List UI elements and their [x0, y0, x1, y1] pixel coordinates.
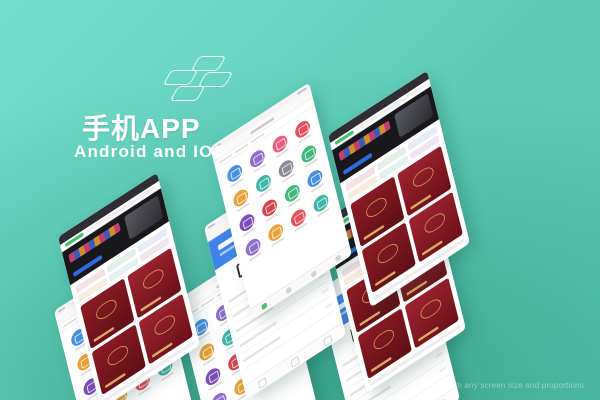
app-icon[interactable] [283, 182, 301, 205]
app-icon-cell[interactable] [264, 219, 289, 249]
app-icon-cell[interactable] [251, 170, 276, 200]
headline-block: 手机APP Android and IOS [60, 50, 310, 170]
footnote-text: * Works with any screen size and proport… [415, 381, 584, 390]
list-item-chevron [325, 302, 332, 309]
app-icon[interactable] [210, 390, 228, 400]
logo-tile-4 [198, 72, 234, 87]
app-icon[interactable] [238, 211, 256, 234]
app-icon-cell[interactable] [280, 180, 305, 210]
app-icon[interactable] [312, 191, 330, 214]
page-subtitle-en: Android and IOS [74, 142, 226, 162]
app-icon-cell[interactable] [235, 209, 260, 239]
app-icon[interactable] [254, 172, 272, 195]
app-icon[interactable] [267, 221, 285, 244]
list-item-chevron [439, 366, 446, 373]
four-rounded-rectangles-logo-icon [165, 54, 235, 106]
page-title-cn: 手机APP [82, 107, 201, 147]
app-icon[interactable] [204, 365, 222, 388]
logo-tile-2 [191, 56, 227, 71]
logo-tile-3 [170, 86, 206, 101]
app-icon-cell[interactable] [241, 234, 266, 264]
app-icon-cell[interactable] [229, 185, 254, 215]
app-icon[interactable] [290, 206, 308, 229]
app-icon[interactable] [198, 341, 216, 364]
app-icon[interactable] [306, 167, 324, 190]
list-item-chevron [322, 287, 329, 294]
app-icon[interactable] [232, 187, 250, 210]
app-icon-cell[interactable] [258, 194, 283, 224]
app-icon[interactable] [261, 196, 279, 219]
app-icon[interactable] [244, 236, 262, 259]
app-icon-cell[interactable] [309, 189, 334, 219]
logo-tile-1 [163, 70, 199, 85]
list-item-chevron [436, 351, 443, 358]
app-icon-cell[interactable] [287, 204, 312, 234]
mockup-stage: 手机APP Android and IOS * Works with any s… [0, 0, 600, 400]
app-icon-cell[interactable] [201, 363, 226, 393]
